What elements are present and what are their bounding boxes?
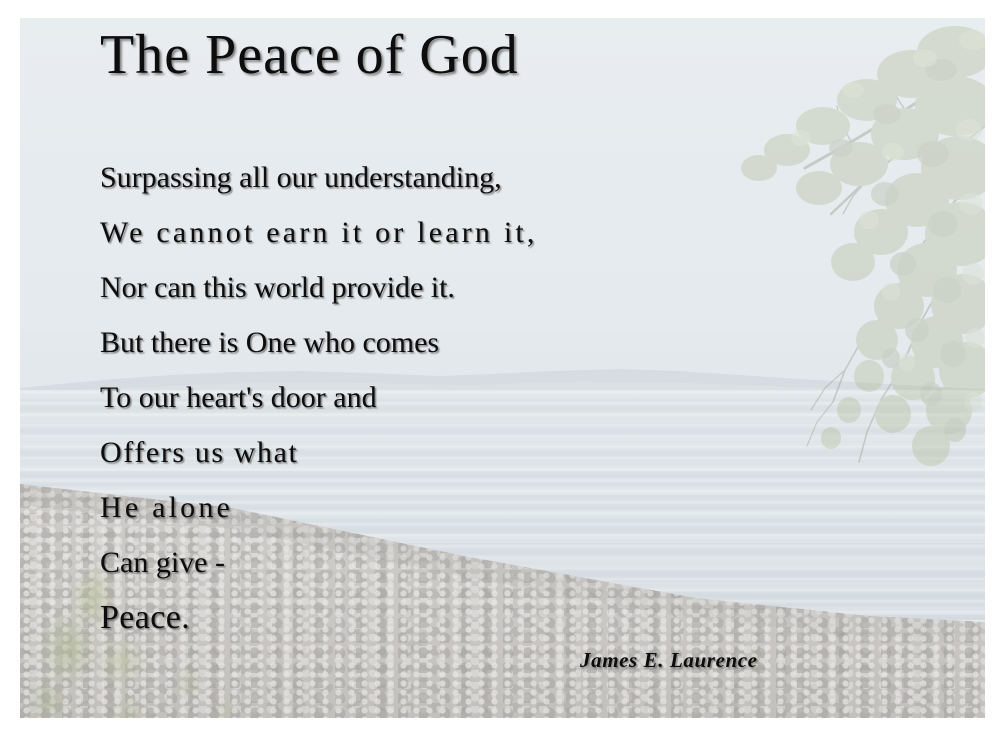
poem-slide: The Peace of God Surpassing all our unde…: [0, 0, 999, 743]
poem-body: Surpassing all our understanding, We can…: [100, 150, 740, 645]
poem-line: He alone: [100, 480, 740, 535]
poem-line: We cannot earn it or learn it,: [100, 205, 740, 260]
page-title: The Peace of God: [100, 26, 519, 85]
poem-line-final: Peace.: [100, 590, 740, 645]
poem-line: But there is One who comes: [100, 315, 740, 370]
author-attribution: James E. Laurence: [580, 648, 758, 673]
slide-text-layer: The Peace of God Surpassing all our unde…: [0, 0, 999, 743]
poem-line: To our heart's door and: [100, 370, 740, 425]
poem-line: Can give -: [100, 535, 740, 590]
poem-line: Nor can this world provide it.: [100, 260, 740, 315]
poem-line: Offers us what: [100, 425, 740, 480]
poem-line: Surpassing all our understanding,: [100, 150, 740, 205]
